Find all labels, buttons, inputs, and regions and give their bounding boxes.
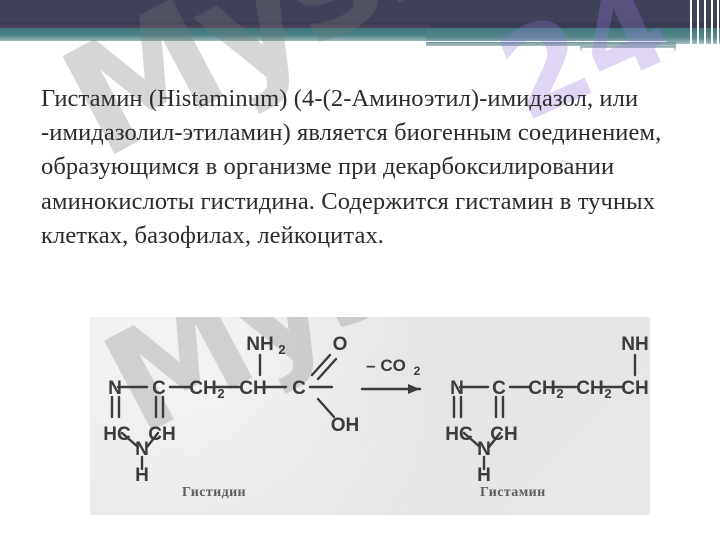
- svg-text:CH: CH: [148, 424, 175, 445]
- svg-text:N: N: [477, 439, 491, 460]
- svg-text:H: H: [135, 465, 149, 486]
- reaction-diagram-image: Myslide: [90, 317, 650, 515]
- svg-text:CH: CH: [621, 378, 648, 399]
- svg-text:HC: HC: [103, 424, 131, 445]
- svg-text:N: N: [135, 439, 149, 460]
- svg-text:HC: HC: [445, 424, 473, 445]
- svg-text:CH: CH: [239, 378, 266, 399]
- svg-text:2: 2: [604, 386, 611, 401]
- header-accent-bar-3-highlight: [582, 48, 674, 51]
- svg-text:H: H: [477, 465, 491, 486]
- figure-caption-histamine: Гистамин: [480, 485, 546, 501]
- header-tick-3: [704, 0, 706, 52]
- svg-text:2: 2: [556, 386, 563, 401]
- svg-text:NH: NH: [246, 334, 273, 355]
- svg-text:C: C: [152, 378, 166, 399]
- svg-text:CH: CH: [490, 424, 517, 445]
- header-tick-5: [717, 0, 719, 52]
- svg-text:NH: NH: [621, 334, 648, 355]
- svg-text:– CO: – CO: [366, 356, 406, 375]
- svg-text:O: O: [333, 334, 348, 355]
- svg-text:2: 2: [278, 342, 285, 357]
- svg-text:CH: CH: [189, 378, 216, 399]
- page-title: Гистамин (Histaminum) (4-(2-Аминоэтил)-и…: [41, 82, 687, 253]
- svg-text:C: C: [292, 378, 306, 399]
- reaction-structure-svg: N C CH 2 CH C NH 2 O OH HC CH N H – CO 2…: [90, 317, 650, 515]
- svg-text:2: 2: [414, 364, 421, 378]
- svg-text:CH: CH: [528, 378, 555, 399]
- svg-text:N: N: [450, 378, 464, 399]
- svg-text:OH: OH: [331, 415, 360, 436]
- svg-text:2: 2: [217, 386, 224, 401]
- svg-text:CH: CH: [576, 378, 603, 399]
- figure-caption-histidine: Гистидин: [182, 485, 246, 501]
- svg-text:N: N: [108, 378, 122, 399]
- header-tick-1: [690, 0, 692, 52]
- svg-text:C: C: [492, 378, 506, 399]
- header-tick-2: [697, 0, 699, 52]
- header-tick-4: [711, 0, 713, 52]
- svg-text:2: 2: [649, 386, 650, 401]
- slide-canvas: Myslide 24 Гистамин (Histaminum) (4-(2-А…: [0, 0, 720, 540]
